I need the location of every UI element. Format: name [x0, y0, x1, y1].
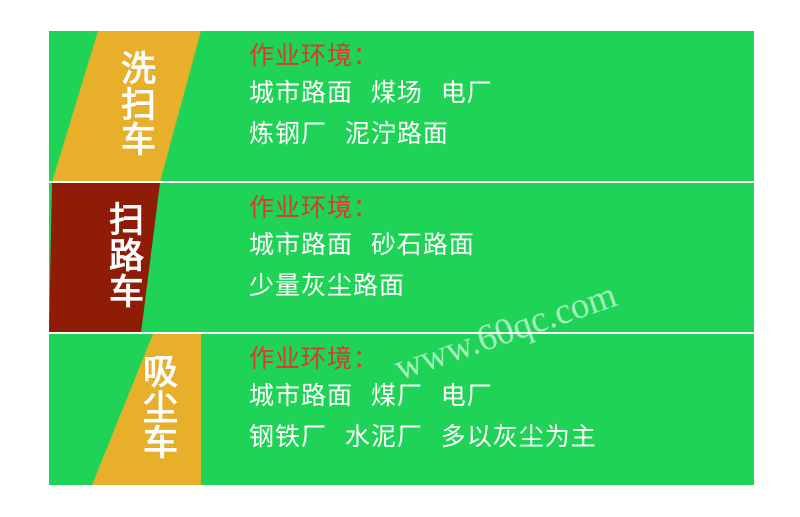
badge-char: 吸: [143, 356, 179, 392]
environment-line: 炼钢厂 泥泞路面: [249, 121, 746, 146]
badge-char: 车: [109, 276, 145, 312]
table-row: 吸 尘 车 作业环境： 城市路面 煤厂 电厂 钢铁厂 水泥厂 多以灰尘为主: [49, 334, 754, 485]
vehicle-type-badge: 扫 路 车: [49, 183, 201, 333]
row-content: 作业环境： 城市路面 煤厂 电厂 钢铁厂 水泥厂 多以灰尘为主: [249, 334, 746, 485]
comparison-panel: 洗 扫 车 作业环境： 城市路面 煤场 电厂 炼钢厂 泥泞路面 扫 路 车 作业…: [49, 31, 754, 485]
environment-line: 少量灰尘路面: [249, 273, 746, 298]
environment-heading: 作业环境：: [249, 195, 746, 220]
vehicle-type-badge: 吸 尘 车: [49, 334, 201, 485]
environment-line: 钢铁厂 水泥厂 多以灰尘为主: [249, 424, 746, 449]
table-row: 洗 扫 车 作业环境： 城市路面 煤场 电厂 炼钢厂 泥泞路面: [49, 31, 754, 182]
row-content: 作业环境： 城市路面 煤场 电厂 炼钢厂 泥泞路面: [249, 31, 746, 182]
badge-char: 尘: [143, 392, 179, 428]
badge-char: 路: [109, 240, 145, 276]
badge-char: 扫: [121, 89, 157, 125]
badge-label-stack: 吸 尘 车: [143, 356, 179, 463]
badge-char: 车: [143, 427, 179, 463]
table-row: 扫 路 车 作业环境： 城市路面 砂石路面 少量灰尘路面: [49, 183, 754, 333]
environment-line: 城市路面 煤场 电厂: [249, 80, 746, 105]
row-content: 作业环境： 城市路面 砂石路面 少量灰尘路面: [249, 183, 746, 333]
badge-label-stack: 洗 扫 车: [121, 53, 157, 160]
environment-line: 城市路面 煤厂 电厂: [249, 383, 746, 408]
badge-char: 扫: [109, 204, 145, 240]
badge-label-stack: 扫 路 车: [109, 204, 145, 311]
environment-heading: 作业环境：: [249, 346, 746, 371]
environment-line: 城市路面 砂石路面: [249, 232, 746, 257]
badge-char: 车: [121, 124, 157, 160]
environment-heading: 作业环境：: [249, 43, 746, 68]
badge-char: 洗: [121, 53, 157, 89]
vehicle-type-badge: 洗 扫 车: [49, 31, 201, 182]
